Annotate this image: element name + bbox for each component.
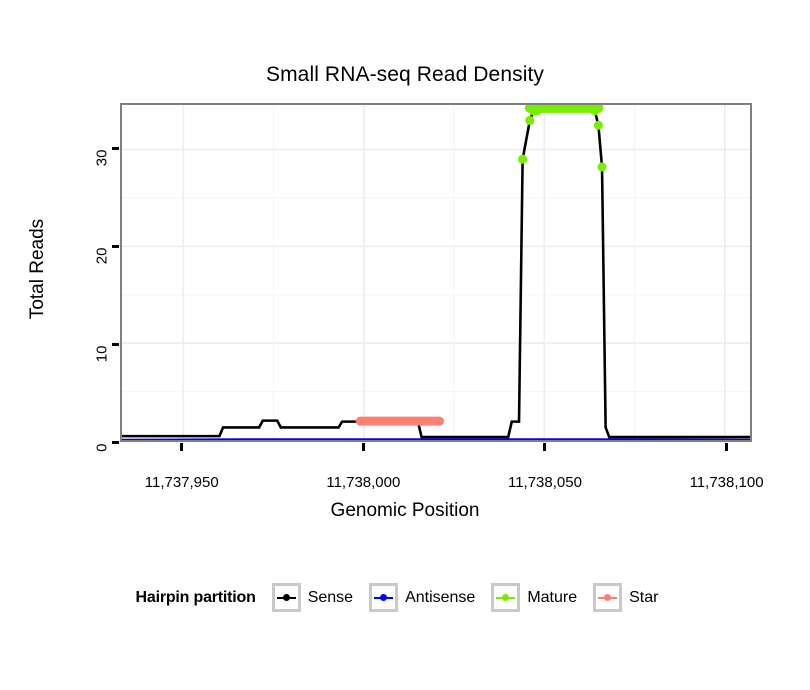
legend-key-dot	[380, 594, 387, 601]
x-tick-label: 11,738,100	[657, 474, 797, 491]
series-point-star	[411, 419, 415, 423]
y-tick-label-wrap: 20	[60, 239, 102, 253]
legend-label: Antisense	[405, 589, 475, 607]
series-point-mature	[597, 162, 606, 171]
x-tick-mark	[180, 443, 183, 451]
y-tick-label-wrap: 30	[60, 141, 102, 155]
plot-canvas	[122, 105, 750, 440]
legend-item-sense[interactable]: Sense	[272, 583, 367, 612]
series-line-sense	[122, 111, 750, 437]
y-tick-mark	[112, 441, 119, 444]
legend-key-dot	[502, 594, 509, 601]
y-tick-label: 0	[94, 444, 111, 484]
y-tick-label-wrap: 10	[60, 337, 102, 351]
legend-label: Sense	[308, 589, 353, 607]
legend-label: Mature	[527, 589, 577, 607]
y-tick-label: 30	[94, 150, 111, 190]
legend-key-icon	[491, 583, 520, 612]
series-point-mature	[590, 106, 599, 115]
chart-legend: Hairpin partition SenseAntisenseMatureSt…	[0, 583, 810, 612]
legend-item-antisense[interactable]: Antisense	[369, 583, 489, 612]
legend-key-icon	[369, 583, 398, 612]
y-tick-label: 10	[94, 346, 111, 386]
legend-key-dot	[283, 594, 290, 601]
y-tick-label-wrap: 0	[60, 435, 102, 449]
legend-item-mature[interactable]: Mature	[491, 583, 591, 612]
x-tick-mark	[725, 443, 728, 451]
y-tick-mark	[112, 245, 119, 248]
legend-key-icon	[272, 583, 301, 612]
x-tick-label: 11,738,000	[293, 474, 433, 491]
y-tick-label: 20	[94, 248, 111, 288]
x-tick-label: 11,738,050	[475, 474, 615, 491]
x-tick-mark	[362, 443, 365, 451]
legend-title: Hairpin partition	[136, 589, 256, 607]
series-point-mature	[594, 121, 603, 130]
series-point-star	[384, 419, 388, 423]
plot-panel	[120, 103, 752, 442]
chart-title: Small RNA-seq Read Density	[0, 63, 810, 87]
x-axis-title: Genomic Position	[0, 500, 810, 522]
series-point-star	[438, 419, 442, 423]
legend-key-dot	[604, 594, 611, 601]
series-point-mature	[525, 116, 534, 125]
y-tick-mark	[112, 147, 119, 150]
x-tick-label: 11,737,950	[112, 474, 252, 491]
series-point-mature	[532, 106, 541, 115]
y-axis-title: Total Reads	[27, 194, 49, 344]
series-point-mature	[518, 155, 527, 164]
legend-key-icon	[593, 583, 622, 612]
y-tick-mark	[112, 343, 119, 346]
series-point-star	[358, 419, 362, 423]
chart-figure: Small RNA-seq Read Density Total Reads 0…	[0, 0, 810, 690]
legend-label: Star	[629, 589, 658, 607]
legend-item-star[interactable]: Star	[593, 583, 672, 612]
x-tick-mark	[543, 443, 546, 451]
